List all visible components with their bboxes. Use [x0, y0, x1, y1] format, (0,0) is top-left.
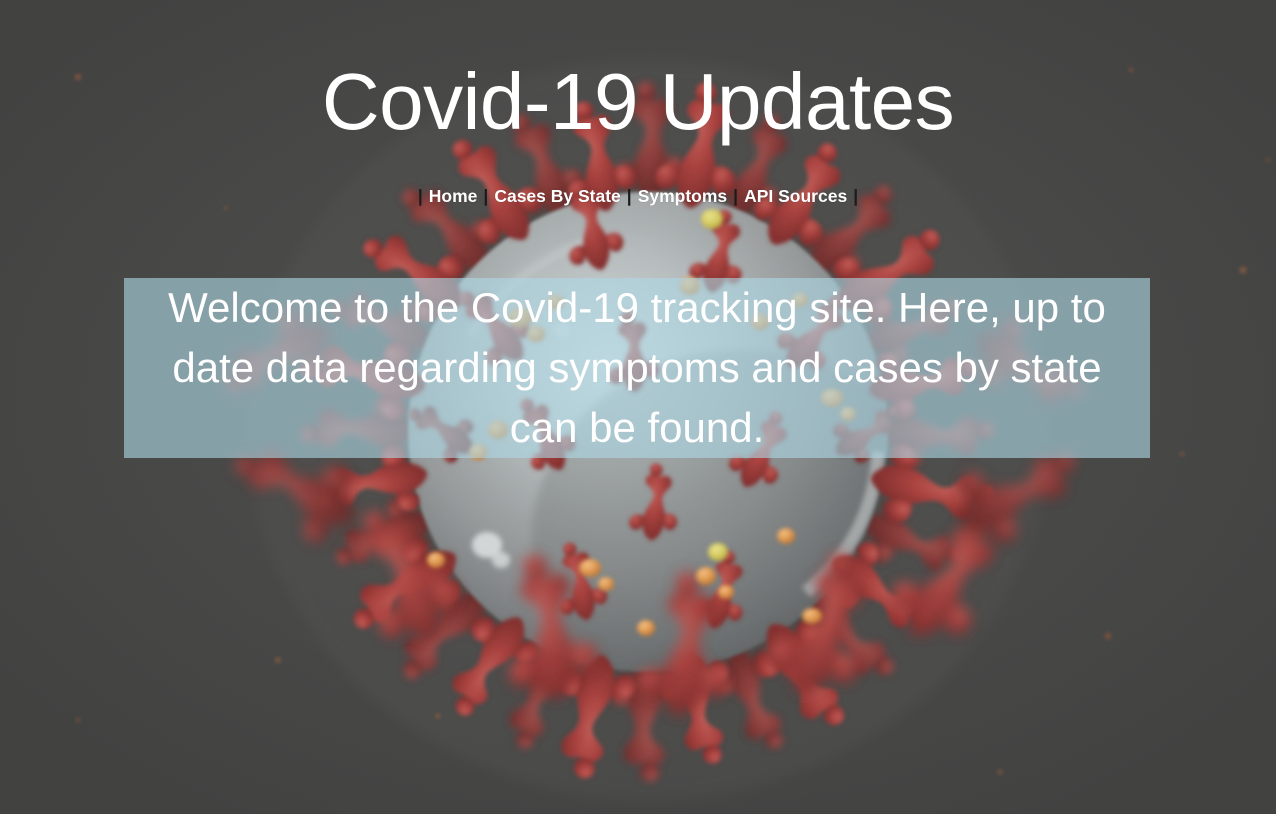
nav-link-symptoms[interactable]: Symptoms	[633, 186, 732, 206]
nav-link-api-sources[interactable]: API Sources	[739, 186, 852, 206]
nav-separator: |	[417, 186, 424, 206]
page-title: Covid-19 Updates	[0, 54, 1276, 150]
main-navigation: |Home|Cases By State|Symptoms|API Source…	[0, 183, 1276, 209]
welcome-banner: Welcome to the Covid-19 tracking site. H…	[124, 278, 1150, 458]
welcome-message: Welcome to the Covid-19 tracking site. H…	[124, 278, 1150, 458]
covid-updates-page: Covid-19 Updates |Home|Cases By State|Sy…	[0, 0, 1276, 814]
nav-link-cases-by-state[interactable]: Cases By State	[489, 186, 625, 206]
nav-separator: |	[626, 186, 633, 206]
nav-link-home[interactable]: Home	[424, 186, 483, 206]
nav-separator: |	[852, 186, 859, 206]
